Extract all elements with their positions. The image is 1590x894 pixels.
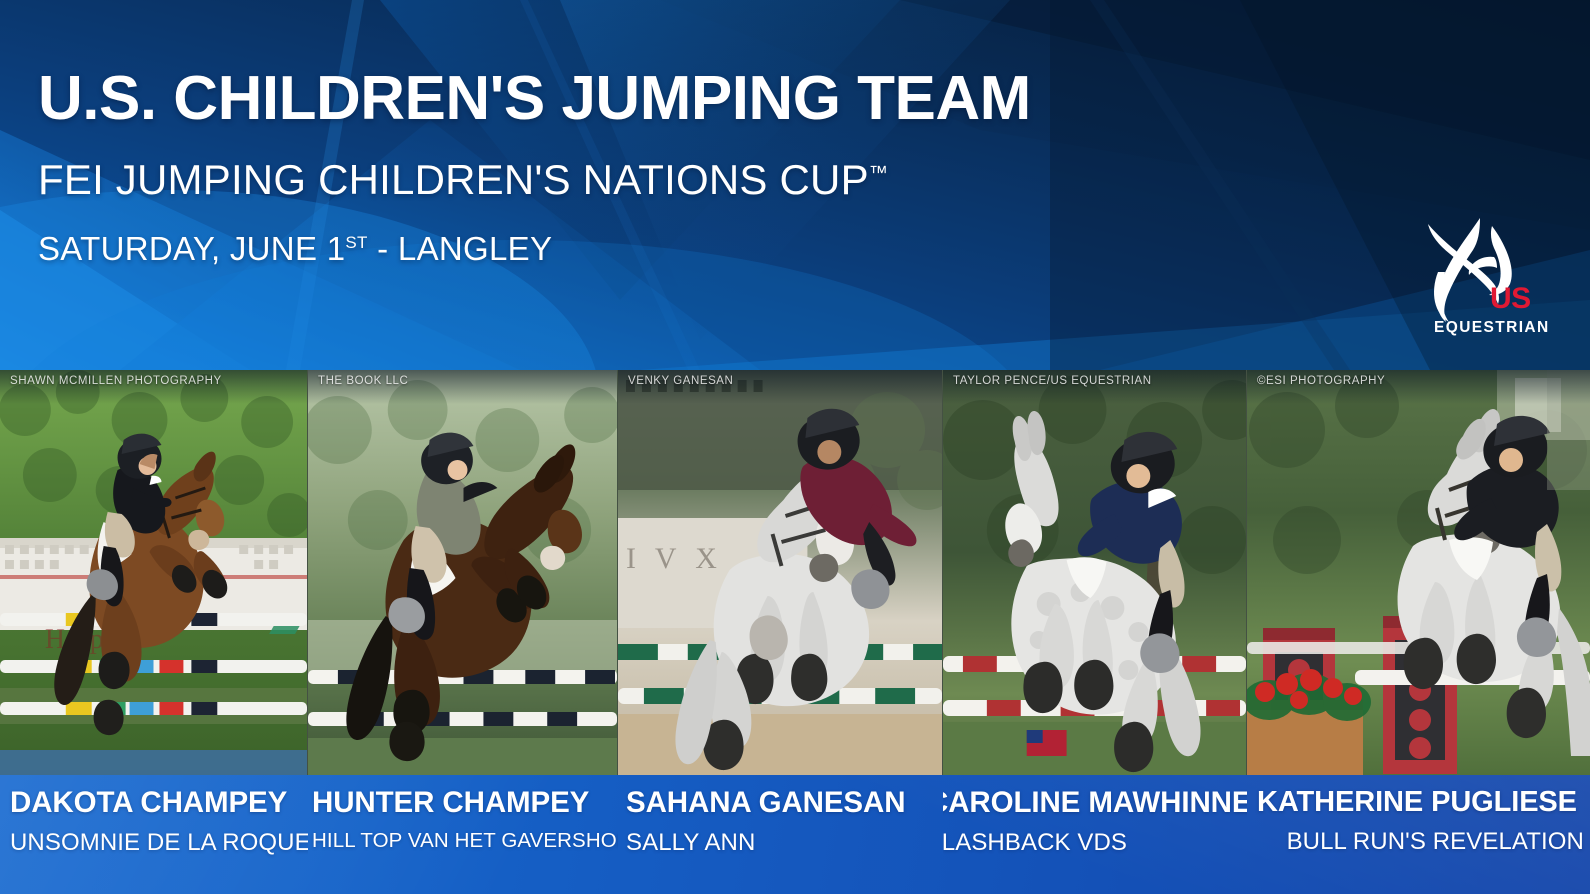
rider-name-bar: DAKOTA CHAMPEY UNSOMNIE DE LA ROQUE HUNT… xyxy=(0,775,1590,894)
rider-name-1: DAKOTA CHAMPEY xyxy=(10,788,308,818)
rider-photo-3[interactable]: I V X xyxy=(618,370,943,775)
photo-credit-5: ©ESI PHOTOGRAPHY xyxy=(1257,375,1385,387)
logo-us-text: US xyxy=(1490,282,1531,315)
roster-entry-2: HUNTER CHAMPEY HILL TOP VAN HET GAVERSHO… xyxy=(308,775,618,894)
rider-photo-2[interactable]: THE BOOK LLC xyxy=(308,370,618,775)
date-prefix: SATURDAY, JUNE 1 xyxy=(38,230,345,267)
roster-entry-4: CAROLINE MAWHINNEY FLASHBACK VDS xyxy=(943,775,1247,894)
horse-name-5: BULL RUN'S REVELATION xyxy=(1257,830,1590,854)
horse-name-2: HILL TOP VAN HET GAVERSHOF xyxy=(312,831,618,852)
roster-entry-5: KATHERINE PUGLIESE BULL RUN'S REVELATION xyxy=(1247,775,1590,894)
date-location: - LANGLEY xyxy=(368,230,553,267)
header-banner: U.S. CHILDREN'S JUMPING TEAM FEI JUMPING… xyxy=(0,0,1590,370)
rider-name-5: KATHERINE PUGLIESE xyxy=(1257,788,1590,817)
event-subtitle: FEI JUMPING CHILDREN'S NATIONS CUP™ xyxy=(38,159,1031,201)
photo-4-image xyxy=(943,370,1246,775)
photo-credit-4: TAYLOR PENCE/US EQUESTRIAN xyxy=(953,375,1152,387)
photo-3-image: I V X xyxy=(618,370,942,775)
trademark-symbol: ™ xyxy=(869,163,888,184)
roster-entry-1: DAKOTA CHAMPEY UNSOMNIE DE LA ROQUE xyxy=(0,775,308,894)
date-ordinal-suffix: ST xyxy=(345,233,367,252)
horse-name-1: UNSOMNIE DE LA ROQUE xyxy=(10,831,308,855)
photo-2-image xyxy=(308,370,617,775)
header-text-block: U.S. CHILDREN'S JUMPING TEAM FEI JUMPING… xyxy=(38,68,1031,265)
logo-equestrian-text: EQUESTRIAN xyxy=(1434,319,1550,336)
rider-name-4: CAROLINE MAWHINNEY xyxy=(943,788,1247,818)
rider-name-3: SAHANA GANESAN xyxy=(626,788,943,818)
roster-row: DAKOTA CHAMPEY UNSOMNIE DE LA ROQUE HUNT… xyxy=(0,775,1590,894)
rider-photo-5[interactable]: ©ESI PHOTOGRAPHY xyxy=(1247,370,1590,775)
photo-credit-3: VENKY GANESAN xyxy=(628,375,733,387)
us-equestrian-logo[interactable]: US EQUESTRIAN xyxy=(1394,212,1562,340)
svg-text:I V X: I V X xyxy=(626,542,723,575)
rider-name-2: HUNTER CHAMPEY xyxy=(312,788,618,818)
photo-credit-2: THE BOOK LLC xyxy=(318,375,408,387)
photo-5-image xyxy=(1247,370,1590,775)
horse-name-3: SALLY ANN xyxy=(626,831,943,855)
event-subtitle-text: FEI JUMPING CHILDREN'S NATIONS CUP xyxy=(38,156,869,203)
team-announcement-graphic: U.S. CHILDREN'S JUMPING TEAM FEI JUMPING… xyxy=(0,0,1590,894)
roster-entry-3: SAHANA GANESAN SALLY ANN xyxy=(618,775,943,894)
rider-photo-4[interactable]: TAYLOR PENCE/US EQUESTRIAN xyxy=(943,370,1247,775)
horse-name-4: FLASHBACK VDS xyxy=(943,831,1247,855)
photo-1-image: Hospital xyxy=(0,370,307,775)
rider-photo-strip: Hospital xyxy=(0,370,1590,775)
page-title: U.S. CHILDREN'S JUMPING TEAM xyxy=(38,68,1031,130)
rider-photo-1[interactable]: Hospital xyxy=(0,370,308,775)
photo-credit-1: SHAWN MCMILLEN PHOTOGRAPHY xyxy=(10,375,222,387)
event-date-location: SATURDAY, JUNE 1ST - LANGLEY xyxy=(38,232,1031,265)
